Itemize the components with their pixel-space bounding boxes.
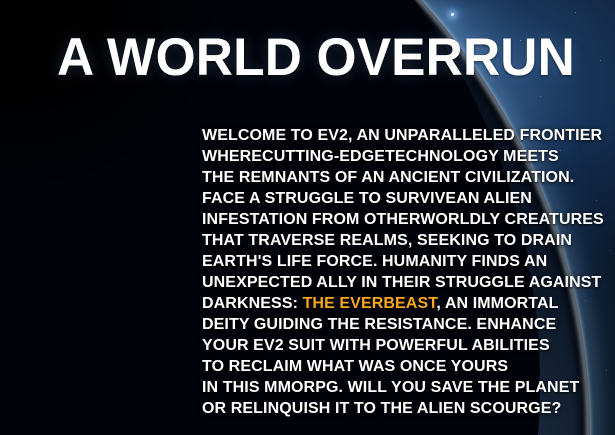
highlighted-entity-name: THE EVERBEAST (303, 295, 437, 312)
body-line-text: , AN IMMORTAL (436, 295, 558, 312)
promo-body-text: WELCOME TO EV2, AN UNPARALLELED FRONTIER… (202, 125, 602, 419)
body-line: FACE A STRUGGLE TO SURVIVEAN ALIEN (202, 188, 602, 209)
body-line: DARKNESS: THE EVERBEAST, AN IMMORTAL (202, 293, 602, 314)
body-line: OR RELINQUISH IT TO THE ALIEN SCOURGE? (202, 398, 602, 419)
body-line: WELCOME TO EV2, AN UNPARALLELED FRONTIER (202, 125, 602, 146)
body-line: THAT TRAVERSE REALMS, SEEKING TO DRAIN (202, 230, 602, 251)
page-title: A WORLD OVERRUN (57, 31, 575, 84)
body-line: EARTH'S LIFE FORCE. HUMANITY FINDS AN (202, 251, 602, 272)
body-line: YOUR EV2 SUIT WITH POWERFUL ABILITIES (202, 335, 602, 356)
body-line: TO RECLAIM WHAT WAS ONCE YOURS (202, 356, 602, 377)
body-line: WHERECUTTING-EDGETECHNOLOGY MEETS (202, 146, 602, 167)
body-line-text: DARKNESS: (202, 295, 303, 312)
body-line: DEITY GUIDING THE RESISTANCE. ENHANCE (202, 314, 602, 335)
body-line: INFESTATION FROM OTHERWORLDLY CREATURES (202, 209, 602, 230)
body-line: UNEXPECTED ALLY IN THEIR STRUGGLE AGAINS… (202, 272, 602, 293)
body-line: IN THIS MMORPG. WILL YOU SAVE THE PLANET (202, 377, 602, 398)
body-line: THE REMNANTS OF AN ANCIENT CIVILIZATION. (202, 167, 602, 188)
promo-poster: A WORLD OVERRUN WELCOME TO EV2, AN UNPAR… (0, 0, 615, 435)
